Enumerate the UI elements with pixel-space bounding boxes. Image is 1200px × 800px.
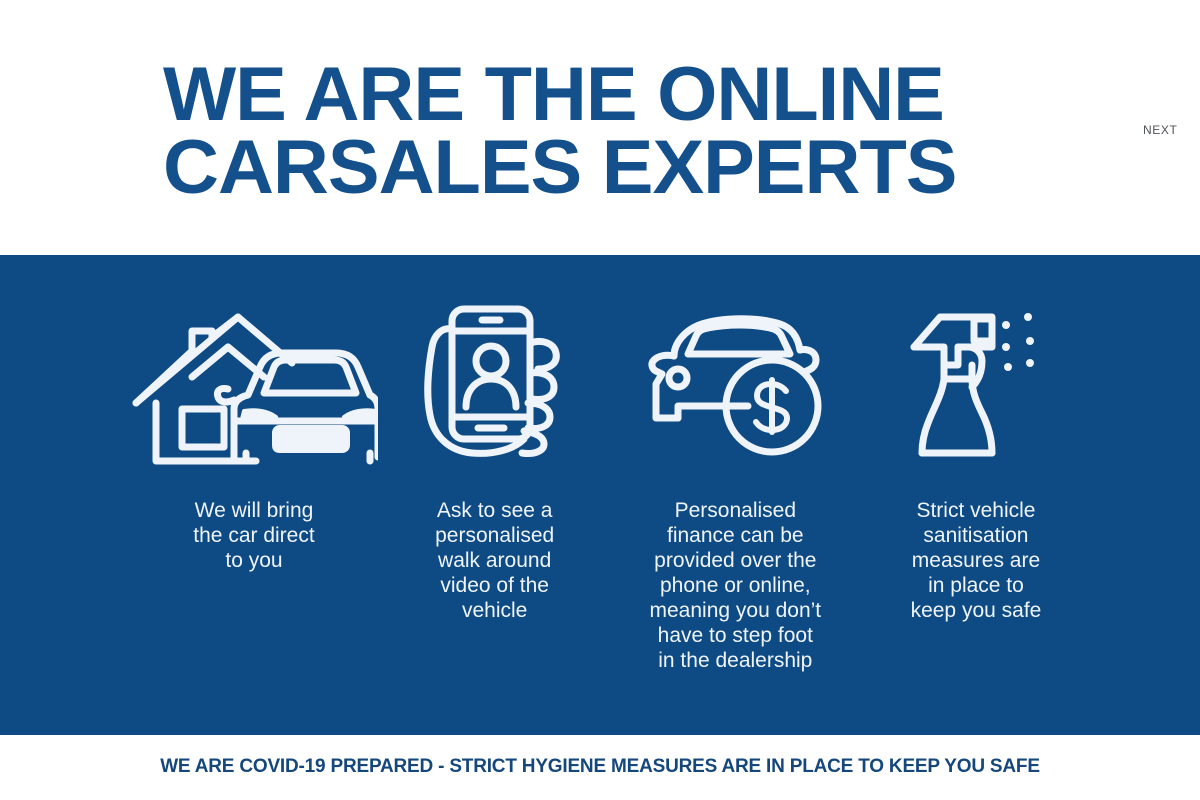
page-title: WE ARE THE ONLINE CARSALES EXPERTS [163,58,1112,204]
headline-line-1: WE ARE THE ONLINE [163,58,1112,131]
promotional-banner: WE ARE THE ONLINE CARSALES EXPERTS NEXT [0,0,1200,800]
feature-item-finance: Personalised finance can be provided ove… [621,255,849,673]
headline-section: WE ARE THE ONLINE CARSALES EXPERTS NEXT [0,0,1200,255]
feature-band: We will bring the car direct to you [0,255,1200,735]
next-button[interactable]: NEXT [1143,123,1177,137]
feature-item-video-walkaround: Ask to see a personalised walk around vi… [381,255,609,623]
spray-bottle-icon [906,300,1046,470]
hand-holding-phone-icon [420,300,570,470]
feature-caption: Strict vehicle sanitisation measures are… [911,498,1042,623]
house-with-car-icon [130,300,378,470]
strapline-section: WE ARE COVID-19 PREPARED - STRICT HYGIEN… [0,735,1200,800]
feature-item-home-delivery: We will bring the car direct to you [140,255,368,573]
feature-caption: Personalised finance can be provided ove… [650,498,822,673]
feature-caption: We will bring the car direct to you [193,498,314,573]
headline-line-2: CARSALES EXPERTS [163,131,1112,204]
car-with-dollar-coin-icon [640,300,830,470]
covid-strapline: WE ARE COVID-19 PREPARED - STRICT HYGIEN… [0,756,1200,778]
feature-columns: We will bring the car direct to you [140,255,1090,735]
feature-caption: Ask to see a personalised walk around vi… [435,498,554,623]
feature-item-sanitisation: Strict vehicle sanitisation measures are… [862,255,1090,623]
